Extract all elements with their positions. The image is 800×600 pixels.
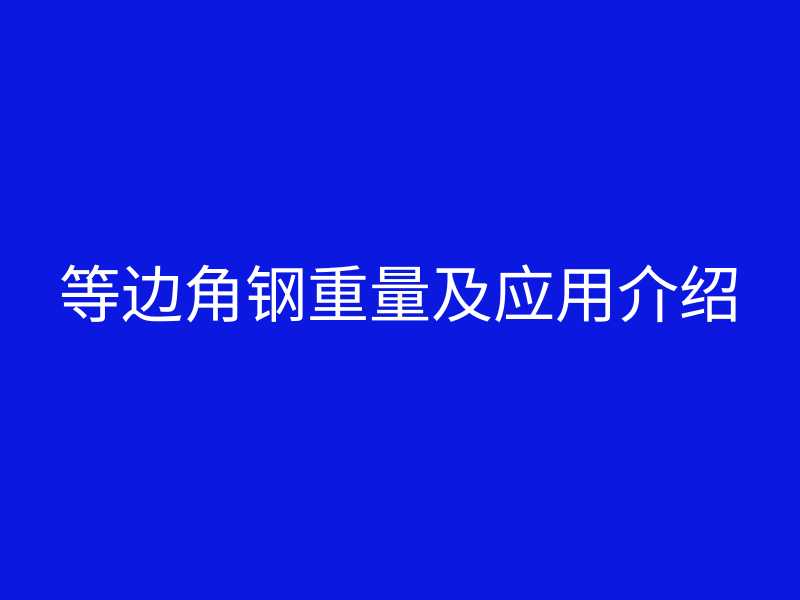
- title-banner: 等边角钢重量及应用介绍: [0, 0, 800, 600]
- page-title: 等边角钢重量及应用介绍: [59, 265, 741, 327]
- headline-block: 等边角钢重量及应用介绍: [0, 265, 800, 327]
